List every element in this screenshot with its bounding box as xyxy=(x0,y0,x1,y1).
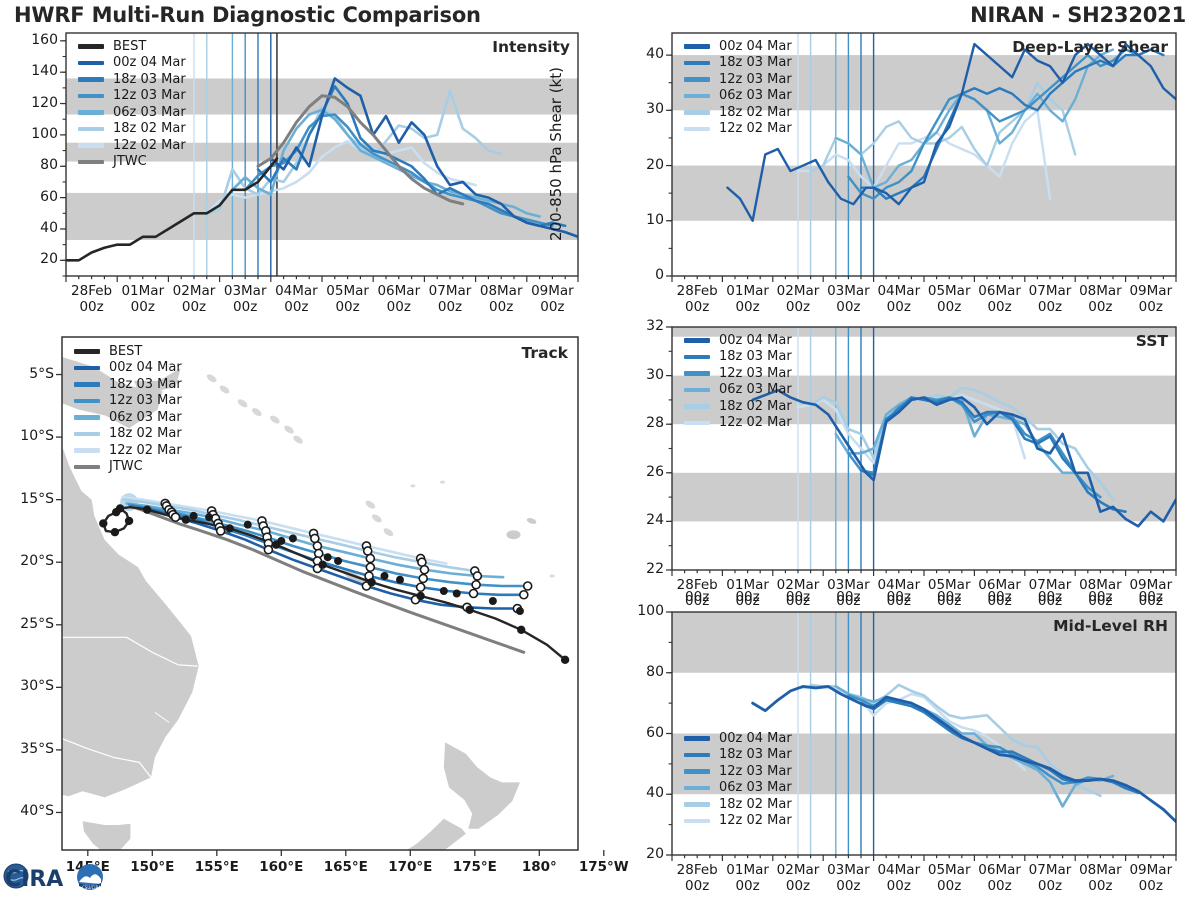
legend-label: 18z 02 Mar xyxy=(719,797,792,812)
map-y-tick-label: 15°S xyxy=(0,491,54,507)
legend-swatch xyxy=(684,753,710,758)
legend-entry: JTWC xyxy=(74,459,182,476)
legend-entry: 12z 03 Mar xyxy=(684,365,792,382)
legend-label: 00z 04 Mar xyxy=(719,333,792,348)
legend-swatch xyxy=(684,127,710,132)
legend-label: 18z 03 Mar xyxy=(719,747,792,762)
legend-label: 06z 03 Mar xyxy=(719,780,792,795)
legend-entry: 06z 03 Mar xyxy=(74,409,182,426)
legend-label: 18z 02 Mar xyxy=(113,121,186,136)
map-x-tick-label: 150°E xyxy=(116,860,188,876)
legend-swatch xyxy=(74,448,100,453)
legend-entry: JTWC xyxy=(78,154,186,171)
cira-logo: CIRA CSU/CIRA xyxy=(2,856,106,898)
legend-label: 00z 04 Mar xyxy=(109,360,182,375)
legend-swatch xyxy=(74,465,100,470)
legend-label: 18z 02 Mar xyxy=(719,399,792,414)
y-tick-label: 28 xyxy=(610,415,664,431)
legend-label: 06z 03 Mar xyxy=(109,410,182,425)
legend-entry: 00z 04 Mar xyxy=(684,38,792,55)
y-axis-label-shear: 200-850 hPa Shear (kt) xyxy=(547,12,565,295)
y-tick-label: 30 xyxy=(610,101,664,117)
legend-label: 18z 03 Mar xyxy=(719,55,792,70)
legend-label: 12z 03 Mar xyxy=(109,393,182,408)
legend-label: 12z 02 Mar xyxy=(719,121,792,136)
y-tick-label: 80 xyxy=(610,664,664,680)
legend-entry: 12z 02 Mar xyxy=(78,137,186,154)
legend-label: 00z 04 Mar xyxy=(719,731,792,746)
legend-entry: 18z 02 Mar xyxy=(684,398,792,415)
legend-entry: 06z 03 Mar xyxy=(78,104,186,121)
legend-swatch xyxy=(74,415,100,420)
legend-track: BEST00z 04 Mar18z 03 Mar12z 03 Mar06z 03… xyxy=(74,343,182,475)
legend-entry: BEST xyxy=(74,343,182,360)
legend-label: 12z 03 Mar xyxy=(113,88,186,103)
page-title: HWRF Multi-Run Diagnostic Comparison xyxy=(14,3,481,27)
panel-title-shear: Deep-Layer Shear xyxy=(0,38,1168,56)
legend-swatch xyxy=(684,61,710,66)
legend-swatch xyxy=(684,736,710,741)
y-tick-label: 100 xyxy=(4,126,58,142)
legend-entry: 12z 03 Mar xyxy=(684,71,792,88)
legend-sst: 00z 04 Mar18z 03 Mar12z 03 Mar06z 03 Mar… xyxy=(684,332,792,431)
legend-shear: 00z 04 Mar18z 03 Mar12z 03 Mar06z 03 Mar… xyxy=(684,38,792,137)
legend-swatch xyxy=(74,366,100,371)
legend-label: 00z 04 Mar xyxy=(719,39,792,54)
legend-label: JTWC xyxy=(113,154,147,169)
legend-swatch xyxy=(74,399,100,404)
legend-swatch xyxy=(684,786,710,791)
y-tick-label: 60 xyxy=(4,189,58,205)
map-y-tick-label: 25°S xyxy=(0,616,54,632)
figure-root: HWRF Multi-Run Diagnostic Comparison NIR… xyxy=(0,0,1200,900)
legend-entry: 18z 02 Mar xyxy=(684,796,792,813)
legend-label: 18z 03 Mar xyxy=(113,72,186,87)
legend-label: JTWC xyxy=(109,459,143,474)
legend-swatch xyxy=(684,388,710,393)
legend-swatch xyxy=(684,421,710,426)
legend-label: 18z 02 Mar xyxy=(109,426,182,441)
legend-intensity: BEST00z 04 Mar18z 03 Mar12z 03 Mar06z 03… xyxy=(78,38,186,170)
legend-label: 06z 03 Mar xyxy=(113,105,186,120)
legend-swatch xyxy=(78,160,104,165)
map-x-tick-label: 175°E xyxy=(439,860,511,876)
legend-swatch xyxy=(78,61,104,66)
legend-swatch xyxy=(78,127,104,132)
legend-entry: 18z 03 Mar xyxy=(684,747,792,764)
map-x-tick-label: 170°E xyxy=(374,860,446,876)
legend-label: 12z 03 Mar xyxy=(719,366,792,381)
map-x-tick-label: 180° xyxy=(503,860,575,876)
y-tick-label: 22 xyxy=(610,561,664,577)
map-y-tick-label: 30°S xyxy=(0,678,54,694)
y-tick-label: 40 xyxy=(4,220,58,236)
panel-title-rh: Mid-Level RH xyxy=(0,617,1168,635)
y-axis-label-rh: 700-500 hPa Humidity (%) xyxy=(547,591,565,874)
legend-swatch xyxy=(78,94,104,99)
y-tick-label: 32 xyxy=(610,318,664,334)
legend-swatch xyxy=(78,77,104,82)
legend-label: 18z 03 Mar xyxy=(109,377,182,392)
legend-label: 06z 03 Mar xyxy=(719,88,792,103)
legend-entry: 00z 04 Mar xyxy=(684,730,792,747)
y-tick-label: 100 xyxy=(610,603,664,619)
legend-swatch xyxy=(684,338,710,343)
y-tick-label: 20 xyxy=(4,251,58,267)
map-y-tick-label: 20°S xyxy=(0,553,54,569)
map-x-tick-label: 155°E xyxy=(181,860,253,876)
y-tick-label: 0 xyxy=(610,267,664,283)
svg-text:CIRA: CIRA xyxy=(5,867,63,892)
x-tick-label: 09Mar00z xyxy=(1115,863,1187,894)
legend-swatch xyxy=(684,44,710,49)
legend-label: 00z 04 Mar xyxy=(113,55,186,70)
legend-entry: 12z 02 Mar xyxy=(684,813,792,830)
legend-rh: 00z 04 Mar18z 03 Mar12z 03 Mar06z 03 Mar… xyxy=(684,730,792,829)
legend-entry: 12z 02 Mar xyxy=(684,121,792,138)
map-x-tick-label: 175°W xyxy=(568,860,640,876)
map-x-tick-label: 165°E xyxy=(310,860,382,876)
legend-entry: 00z 04 Mar xyxy=(684,332,792,349)
legend-label: 12z 02 Mar xyxy=(719,813,792,828)
map-y-tick-label: 40°S xyxy=(0,803,54,819)
legend-swatch xyxy=(74,349,100,354)
legend-swatch xyxy=(684,355,710,360)
legend-entry: 12z 03 Mar xyxy=(78,88,186,105)
legend-swatch xyxy=(78,110,104,115)
y-tick-label: 40 xyxy=(610,46,664,62)
svg-text:CSU/CIRA: CSU/CIRA xyxy=(82,885,101,890)
legend-label: 12z 02 Mar xyxy=(113,138,186,153)
x-tick-hour-label: 00z xyxy=(1115,590,1187,606)
legend-label: 12z 03 Mar xyxy=(719,764,792,779)
legend-label: 12z 02 Mar xyxy=(109,443,182,458)
legend-entry: 00z 04 Mar xyxy=(78,55,186,72)
legend-entry: 18z 03 Mar xyxy=(74,376,182,393)
legend-entry: 18z 03 Mar xyxy=(684,55,792,72)
legend-entry: 18z 02 Mar xyxy=(78,121,186,138)
legend-entry: 00z 04 Mar xyxy=(74,360,182,377)
y-tick-label: 24 xyxy=(610,512,664,528)
legend-entry: 18z 03 Mar xyxy=(684,349,792,366)
legend-swatch xyxy=(684,404,710,409)
map-y-tick-label: 5°S xyxy=(0,366,54,382)
legend-swatch xyxy=(684,371,710,376)
storm-identifier: NIRAN - SH232021 xyxy=(970,3,1186,27)
x-tick-label: 09Mar00z xyxy=(1115,284,1187,315)
legend-swatch xyxy=(684,802,710,807)
legend-entry: 06z 03 Mar xyxy=(684,382,792,399)
legend-swatch xyxy=(78,143,104,148)
legend-entry: 12z 03 Mar xyxy=(684,763,792,780)
y-tick-label: 26 xyxy=(610,464,664,480)
legend-entry: 12z 03 Mar xyxy=(74,393,182,410)
legend-label: 06z 03 Mar xyxy=(719,382,792,397)
map-y-tick-label: 10°S xyxy=(0,428,54,444)
legend-entry: 06z 03 Mar xyxy=(684,780,792,797)
legend-swatch xyxy=(684,94,710,99)
legend-label: BEST xyxy=(109,344,142,359)
y-tick-label: 20 xyxy=(610,157,664,173)
y-tick-label: 60 xyxy=(610,725,664,741)
legend-swatch xyxy=(74,432,100,437)
legend-entry: 06z 03 Mar xyxy=(684,88,792,105)
legend-entry: 12z 02 Mar xyxy=(74,442,182,459)
map-y-tick-label: 35°S xyxy=(0,741,54,757)
legend-swatch xyxy=(684,77,710,82)
y-tick-label: 140 xyxy=(4,63,58,79)
legend-label: 18z 03 Mar xyxy=(719,349,792,364)
legend-label: 12z 02 Mar xyxy=(719,415,792,430)
legend-entry: 12z 02 Mar xyxy=(684,415,792,432)
y-tick-label: 120 xyxy=(4,95,58,111)
legend-entry: 18z 02 Mar xyxy=(74,426,182,443)
y-tick-label: 30 xyxy=(610,367,664,383)
y-tick-label: 10 xyxy=(610,212,664,228)
legend-swatch xyxy=(74,382,100,387)
legend-label: 18z 02 Mar xyxy=(719,105,792,120)
legend-entry: 18z 02 Mar xyxy=(684,104,792,121)
legend-label: 12z 03 Mar xyxy=(719,72,792,87)
y-tick-label: 40 xyxy=(610,785,664,801)
map-x-tick-label: 160°E xyxy=(245,860,317,876)
legend-swatch xyxy=(684,769,710,774)
legend-entry: 18z 03 Mar xyxy=(78,71,186,88)
legend-swatch xyxy=(684,819,710,824)
y-tick-label: 80 xyxy=(4,157,58,173)
legend-swatch xyxy=(684,110,710,115)
